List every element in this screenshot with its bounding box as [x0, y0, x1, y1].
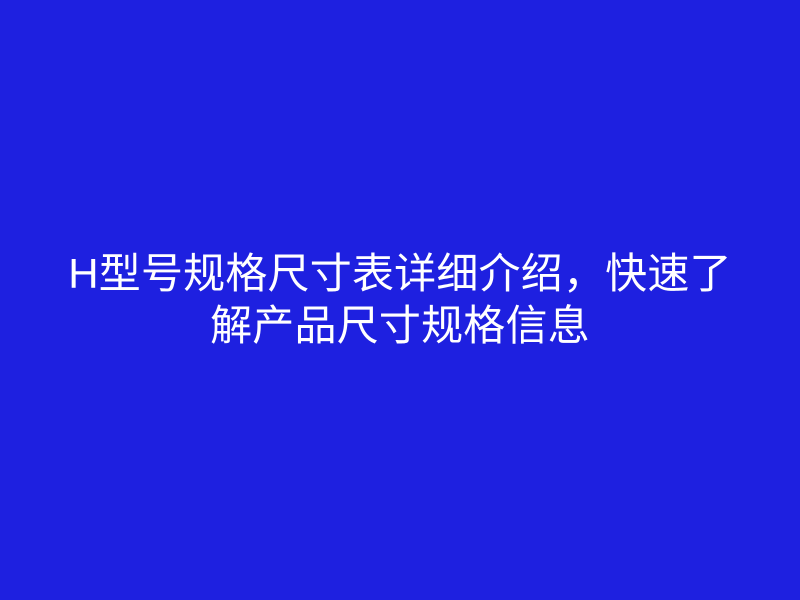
title-card: H型号规格尺寸表详细介绍，快速了解产品尺寸规格信息	[0, 0, 800, 600]
headline-block: H型号规格尺寸表详细介绍，快速了解产品尺寸规格信息	[50, 248, 750, 352]
page-title: H型号规格尺寸表详细介绍，快速了解产品尺寸规格信息	[50, 248, 750, 352]
